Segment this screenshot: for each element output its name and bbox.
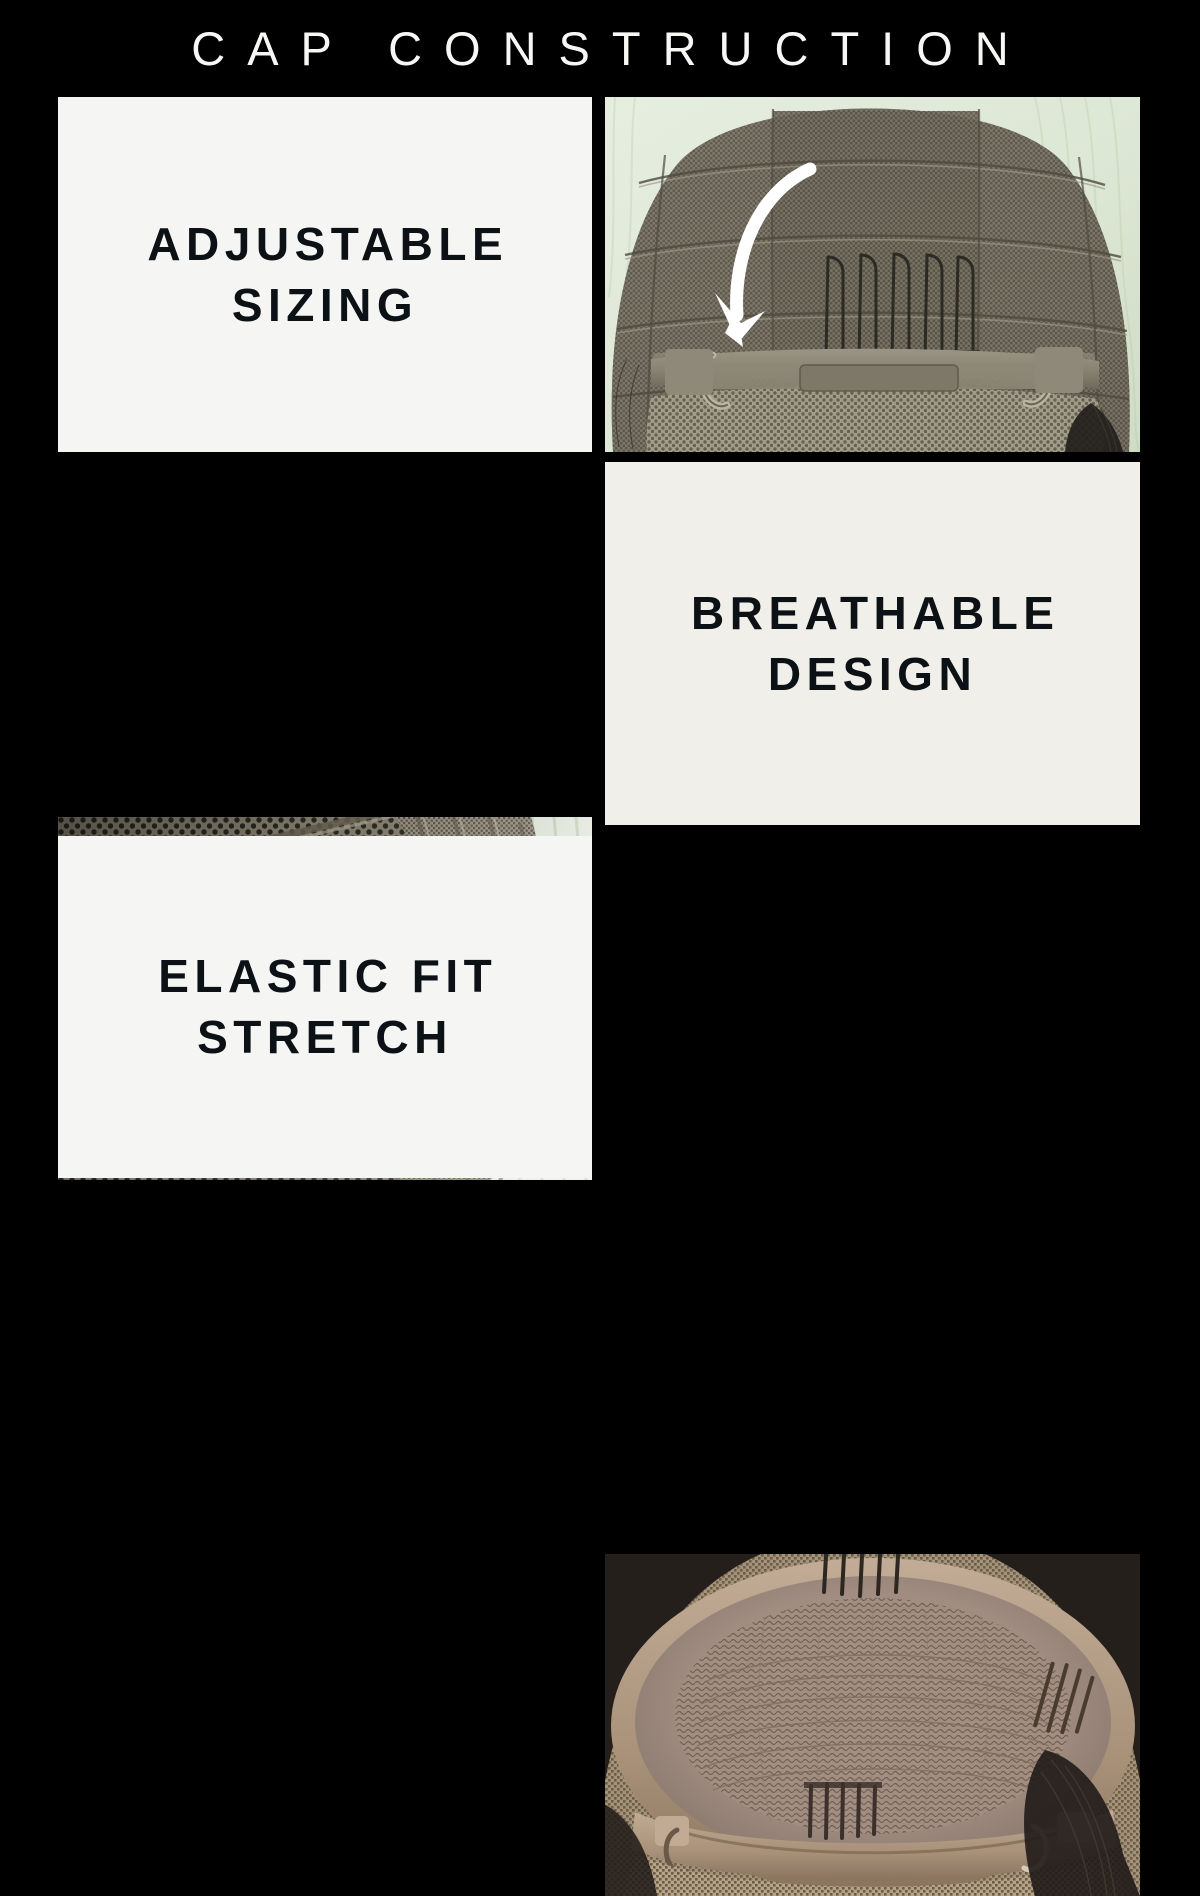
feature-card-elastic-fit-stretch: ELASTIC FITSTRETCH [58,836,592,1178]
page-title: CAP CONSTRUCTION [169,25,1030,72]
feature-label-adjustable-sizing: ADJUSTABLESIZING [118,214,532,335]
feature-label-elastic-fit-stretch: ELASTIC FITSTRETCH [129,946,522,1067]
feature-image-adjustable-straps [605,97,1140,452]
wig-cap-back-illustration [605,97,1140,452]
feature-grid: ADJUSTABLESIZING [58,97,1140,1178]
header-bar: CAP CONSTRUCTION [0,0,1200,97]
feature-label-breathable-design: BREATHABLEDESIGN [662,583,1084,704]
wig-cap-interior-illustration [605,1554,1140,1896]
feature-image-cap-interior [605,1554,1140,1896]
feature-card-breathable-design: BREATHABLEDESIGN [605,462,1140,825]
feature-card-adjustable-sizing: ADJUSTABLESIZING [58,97,592,452]
